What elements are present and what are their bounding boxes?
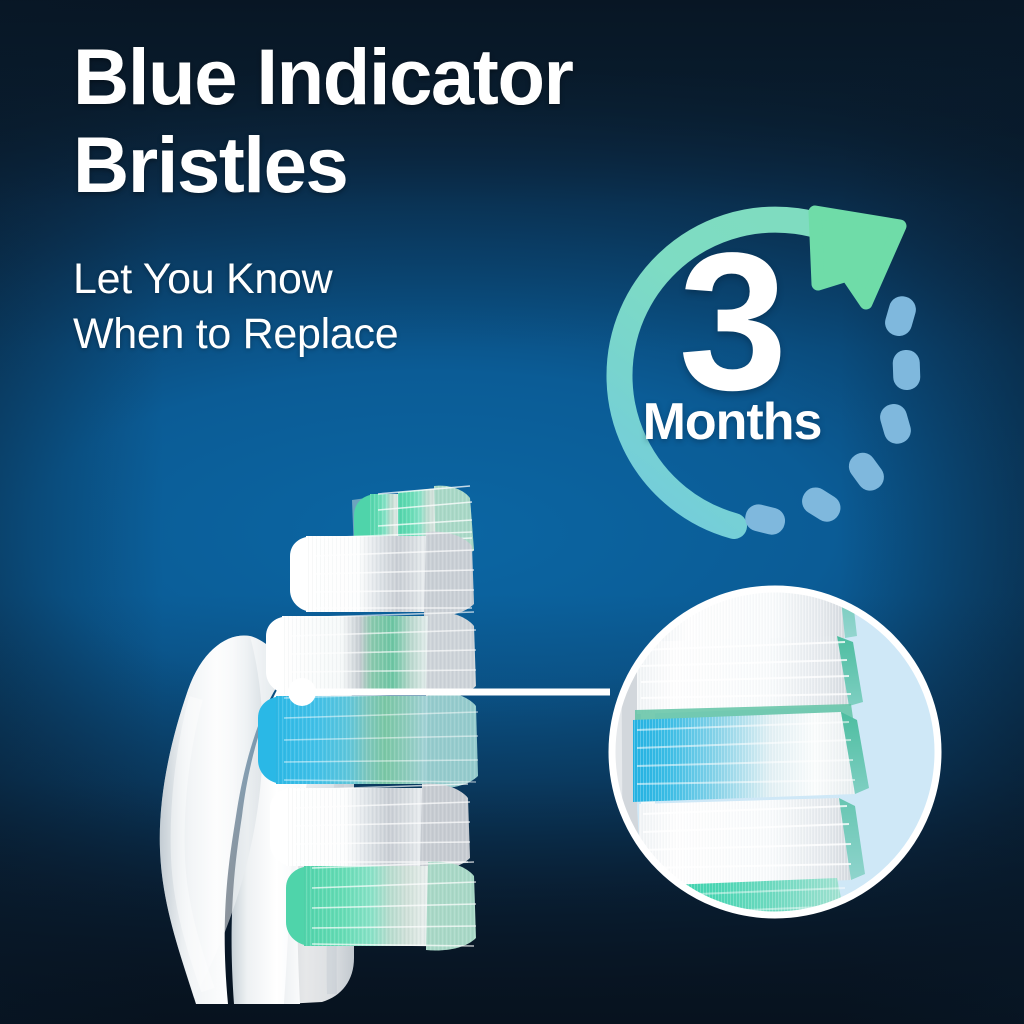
loupe-band-white-upper: [637, 636, 863, 714]
page-title: Blue Indicator Bristles: [73, 33, 573, 209]
loupe-band-blue-indicator: [633, 712, 869, 802]
badge-number: 3: [556, 224, 906, 420]
bristle-row-2-white: [290, 532, 474, 617]
loupe-content: [601, 578, 869, 926]
bristle-rows: [258, 486, 478, 951]
callout-dot: [288, 678, 316, 706]
bristle-row-6-mint: [286, 862, 476, 951]
replace-interval-badge: 3 Months: [556, 178, 928, 550]
magnified-bristle-detail: [601, 578, 949, 926]
page-subtitle: Let You Know When to Replace: [73, 252, 398, 362]
callout-connector: [286, 672, 616, 712]
bristle-row-5-white: [270, 784, 470, 871]
loupe-band-white-bottom: [639, 798, 865, 888]
badge-unit: Months: [556, 394, 908, 450]
product-feature-graphic: Blue Indicator Bristles Let You Know Whe…: [0, 0, 1024, 1024]
